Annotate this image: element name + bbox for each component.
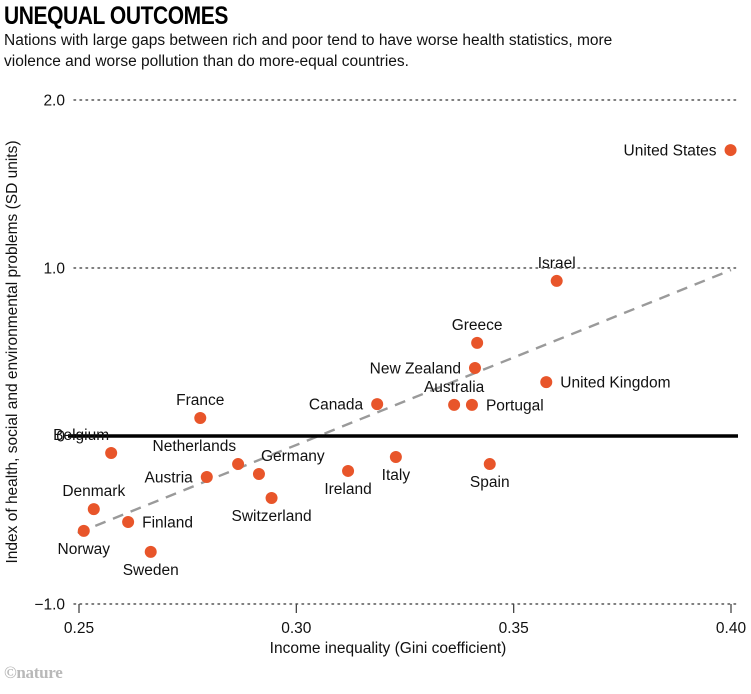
nature-credit: ©nature bbox=[4, 663, 62, 683]
y-tick-label: 1.0 bbox=[43, 261, 65, 278]
point-label-norway: Norway bbox=[58, 541, 111, 558]
point-label-germany: Germany bbox=[261, 448, 325, 465]
point-label-new-zealand: New Zealand bbox=[370, 360, 461, 377]
data-point-netherlands[interactable] bbox=[232, 458, 244, 470]
point-label-australia: Australia bbox=[424, 379, 485, 396]
data-point-ireland[interactable] bbox=[342, 465, 354, 477]
x-tick-label: 0.40 bbox=[716, 620, 747, 637]
point-label-united-states: United States bbox=[624, 143, 717, 160]
point-label-netherlands: Netherlands bbox=[153, 438, 237, 455]
data-point-israel[interactable] bbox=[551, 275, 563, 287]
data-point-finland[interactable] bbox=[122, 516, 134, 528]
x-tick-label: 0.35 bbox=[499, 620, 529, 637]
point-label-austria: Austria bbox=[145, 469, 194, 486]
data-point-australia[interactable] bbox=[448, 399, 460, 411]
point-label-finland: Finland bbox=[142, 515, 193, 532]
data-points bbox=[78, 144, 737, 558]
point-label-sweden: Sweden bbox=[123, 562, 179, 579]
data-point-france[interactable] bbox=[194, 412, 206, 424]
data-point-canada[interactable] bbox=[371, 398, 383, 410]
data-point-portugal[interactable] bbox=[466, 399, 478, 411]
point-label-italy: Italy bbox=[382, 467, 411, 484]
y-tick-label: 2.0 bbox=[43, 93, 65, 110]
point-label-ireland: Ireland bbox=[324, 481, 371, 498]
point-labels: United StatesIsraelGreeceNew ZealandUnit… bbox=[53, 143, 717, 579]
point-label-belgium: Belgium bbox=[53, 427, 109, 444]
data-point-sweden[interactable] bbox=[145, 546, 157, 558]
y-tick-label: −1.0 bbox=[34, 597, 65, 614]
data-point-greece[interactable] bbox=[471, 337, 483, 349]
point-label-france: France bbox=[176, 392, 224, 409]
data-point-italy[interactable] bbox=[390, 451, 402, 463]
point-label-spain: Spain bbox=[470, 474, 510, 491]
data-point-denmark[interactable] bbox=[88, 503, 100, 515]
point-label-denmark: Denmark bbox=[62, 483, 125, 500]
point-label-united-kingdom: United Kingdom bbox=[560, 375, 670, 392]
scatter-plot: 0.250.300.350.40 2.01.00−1.0 United Stat… bbox=[0, 0, 751, 694]
chart-root: UNEQUAL OUTCOMES Nations with large gaps… bbox=[0, 0, 751, 694]
data-point-belgium[interactable] bbox=[105, 447, 117, 459]
y-axis-title: Index of health, social and environmenta… bbox=[4, 140, 21, 563]
data-point-new-zealand[interactable] bbox=[469, 362, 481, 374]
data-point-spain[interactable] bbox=[484, 458, 496, 470]
point-label-greece: Greece bbox=[452, 317, 503, 334]
point-label-israel: Israel bbox=[538, 255, 576, 272]
data-point-united-states[interactable] bbox=[725, 144, 737, 156]
x-axis-title: Income inequality (Gini coefficient) bbox=[270, 640, 507, 657]
point-label-canada: Canada bbox=[309, 397, 364, 414]
data-point-austria[interactable] bbox=[201, 471, 213, 483]
data-point-switzerland[interactable] bbox=[266, 492, 278, 504]
x-tick-label: 0.30 bbox=[281, 620, 312, 637]
data-point-germany[interactable] bbox=[253, 468, 265, 480]
point-label-switzerland: Switzerland bbox=[231, 508, 311, 525]
data-point-norway[interactable] bbox=[78, 525, 90, 537]
point-label-portugal: Portugal bbox=[486, 397, 544, 414]
data-point-united-kingdom[interactable] bbox=[540, 376, 552, 388]
y-axis-tick-labels: 2.01.00−1.0 bbox=[34, 93, 65, 614]
x-tick-label: 0.25 bbox=[64, 620, 94, 637]
x-axis: 0.250.300.350.40 bbox=[64, 604, 747, 637]
